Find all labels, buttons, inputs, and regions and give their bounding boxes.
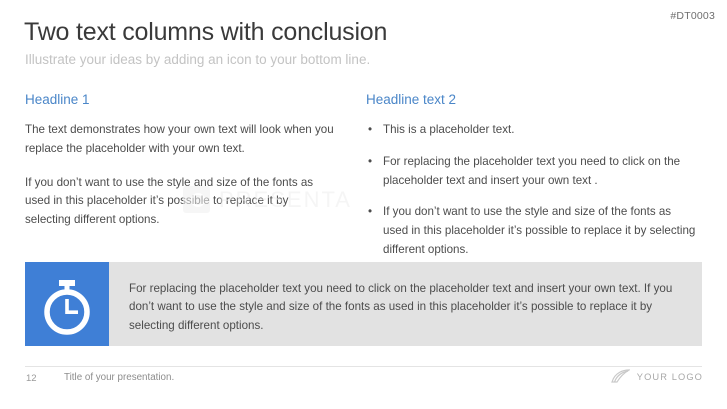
- slide: #DT0003 Two text columns with conclusion…: [0, 0, 727, 409]
- list-item: • If you don’t want to use the style and…: [366, 203, 696, 259]
- template-code: #DT0003: [670, 10, 715, 22]
- stopwatch-icon: [25, 262, 109, 346]
- right-column: Headline text 2 • This is a placeholder …: [366, 92, 696, 260]
- list-item-label: This is a placeholder text.: [383, 123, 514, 136]
- left-column: Headline 1 The text demonstrates how you…: [25, 92, 335, 230]
- footer-divider: [25, 366, 702, 367]
- bullet-marker-icon: •: [368, 121, 372, 140]
- page-subtitle: Illustrate your ideas by adding an icon …: [25, 52, 370, 67]
- left-column-paragraph-2: If you don’t want to use the style and s…: [25, 174, 335, 230]
- bullet-marker-icon: •: [368, 153, 372, 172]
- conclusion-text: For replacing the placeholder text you n…: [129, 280, 690, 335]
- right-column-bullet-list: • This is a placeholder text. • For repl…: [366, 121, 696, 260]
- logo-label: YOUR LOGO: [637, 372, 703, 382]
- swoosh-logo-icon: [611, 369, 630, 384]
- left-column-headline: Headline 1: [25, 92, 335, 107]
- bullet-marker-icon: •: [368, 203, 372, 222]
- list-item-label: For replacing the placeholder text you n…: [383, 155, 680, 187]
- conclusion-bar: For replacing the placeholder text you n…: [25, 262, 702, 346]
- logo: YOUR LOGO: [611, 369, 703, 384]
- left-column-paragraph-1: The text demonstrates how your own text …: [25, 121, 335, 159]
- footer-title: Title of your presentation.: [64, 372, 174, 383]
- list-item-label: If you don’t want to use the style and s…: [383, 205, 695, 256]
- list-item: • This is a placeholder text.: [366, 121, 696, 140]
- page-title: Two text columns with conclusion: [24, 18, 387, 47]
- list-item: • For replacing the placeholder text you…: [366, 153, 696, 191]
- page-number: 12: [26, 373, 37, 384]
- right-column-headline: Headline text 2: [366, 92, 696, 107]
